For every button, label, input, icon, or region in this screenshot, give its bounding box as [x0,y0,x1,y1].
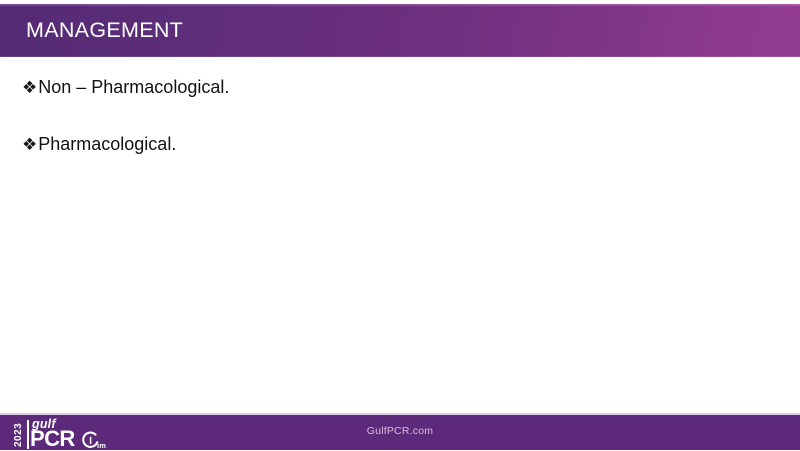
logo-divider [27,420,29,449]
gulfpcr-logo: 2023 gulf PCR im [13,417,121,450]
header-top-accent-line [0,4,800,6]
list-item-label: Non – Pharmacological. [38,75,229,99]
list-item-label: Pharmacological. [38,132,176,156]
slide-content-area: ❖ Non – Pharmacological. ❖ Pharmacologic… [0,57,800,413]
footer-accent-line [0,413,800,415]
page-title: MANAGEMENT [26,17,183,43]
logo-trademark-suffix: im [97,442,106,450]
diamond-bullet-icon: ❖ [22,76,37,100]
logo-pcr-wordmark: PCR [30,428,75,450]
logo-year-label: 2023 [13,421,24,449]
diamond-bullet-icon: ❖ [22,133,37,157]
list-item: ❖ Non – Pharmacological. [22,75,229,100]
presentation-slide: MANAGEMENT ❖ Non – Pharmacological. ❖ Ph… [0,0,800,450]
list-item: ❖ Pharmacological. [22,132,176,157]
